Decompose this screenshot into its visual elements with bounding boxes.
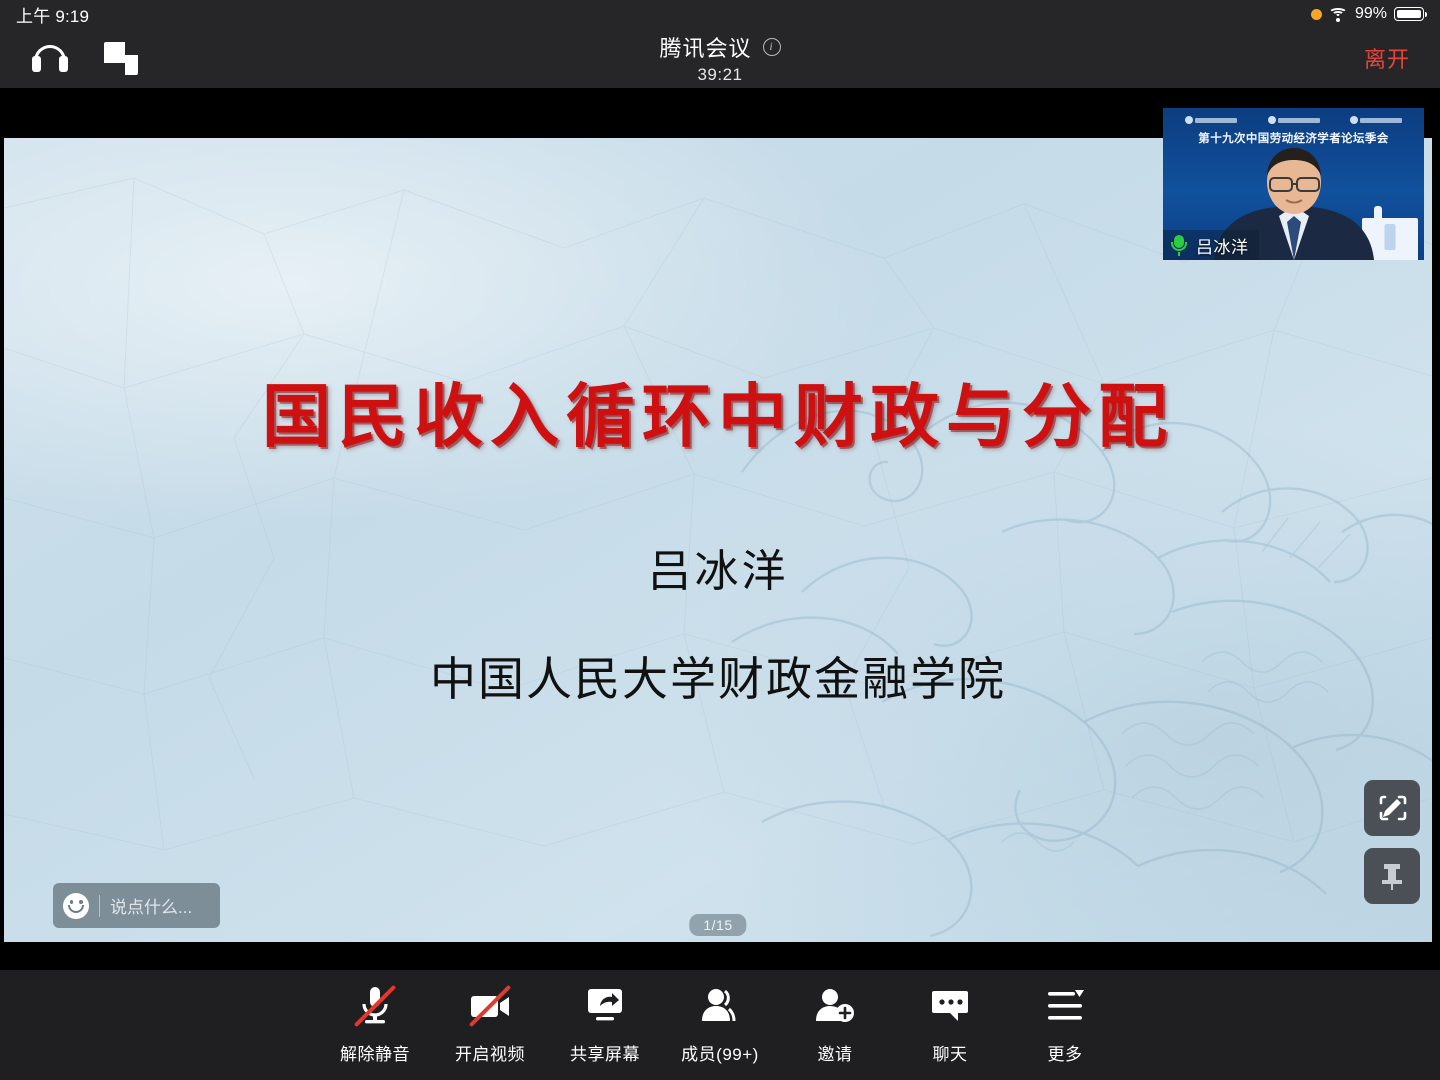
toolbar-label: 开启视频 [455,1040,525,1065]
share-screen-icon [581,985,629,1027]
composer-divider [99,895,100,917]
presenter-nameplate: 吕冰洋 [1163,230,1259,260]
smiley-icon[interactable] [63,893,89,919]
start-video-button[interactable]: 开启视频 [433,985,548,1065]
backdrop-logo-row [1185,114,1402,126]
toolbar-label: 邀请 [818,1040,853,1065]
meeting-toolbar: 解除静音 开启视频 共享屏幕 [0,970,1440,1080]
share-screen-button[interactable]: 共享屏幕 [548,985,663,1065]
backdrop-logo [1185,114,1237,126]
slide-page-indicator: 1/15 [689,914,746,936]
backdrop-logo [1268,114,1320,126]
leave-button[interactable]: 离开 [1364,28,1410,88]
toolbar-label: 解除静音 [340,1040,410,1065]
toolbar-label: 成员(99+) [681,1040,759,1065]
slide-side-buttons [1364,780,1420,904]
slide-title: 国民收入循环中财政与分配 [4,360,1432,460]
toolbar-label: 聊天 [933,1040,968,1065]
shared-screen-stage: 国民收入循环中财政与分配 吕冰洋 中国人民大学财政金融学院 说点什么... 1/… [0,88,1440,970]
participants-icon [696,985,744,1027]
invite-button[interactable]: 邀请 [778,985,893,1065]
meeting-header: 腾讯会议 i 39:21 离开 [0,28,1440,88]
header-center: 腾讯会议 i 39:21 [0,28,1440,88]
unmute-button[interactable]: 解除静音 [318,985,433,1065]
backdrop-logo [1350,114,1402,126]
battery-percent-label: 99% [1355,5,1387,23]
presenter-name: 吕冰洋 [1196,233,1249,258]
microphone-on-icon [1169,234,1189,256]
slide-author: 吕冰洋 [4,535,1432,599]
backdrop-banner-text: 第十九次中国劳动经济学者论坛季会 [1163,130,1424,146]
wifi-icon [1329,7,1348,22]
invite-person-icon [811,985,859,1027]
video-off-icon [466,985,514,1027]
meeting-app-root: 上午 9:19 99% 腾讯会议 i 39:21 离开 [0,0,1440,1080]
battery-icon [1394,7,1424,21]
status-indicators: 99% [1311,5,1424,23]
microphone-muted-icon [351,985,399,1027]
participants-button[interactable]: 成员(99+) [663,985,778,1065]
meeting-title-row: 腾讯会议 i [659,31,780,63]
presenter-thumbnail[interactable]: 第十九次中国劳动经济学者论坛季会 吕冰洋 [1163,108,1424,260]
meeting-title: 腾讯会议 [659,31,751,63]
status-bar: 上午 9:19 99% [0,0,1440,28]
pin-button[interactable] [1364,848,1420,904]
pin-icon [1378,861,1406,891]
slide-affiliation: 中国人民大学财政金融学院 [4,643,1432,709]
chat-button[interactable]: 聊天 [893,985,1008,1065]
info-icon[interactable]: i [763,38,781,56]
recording-dot-icon [1311,9,1322,20]
toolbar-label: 更多 [1048,1040,1083,1065]
pencil-annotate-icon [1377,793,1407,823]
chat-input-placeholder[interactable]: 说点什么... [110,893,192,918]
chat-bubble-icon [926,985,974,1027]
more-button[interactable]: 更多 [1008,985,1123,1065]
status-time: 上午 9:19 [16,2,89,27]
chat-composer[interactable]: 说点什么... [53,883,220,928]
annotate-button[interactable] [1364,780,1420,836]
meeting-timer: 39:21 [697,65,742,85]
more-menu-icon [1041,985,1089,1027]
toolbar-label: 共享屏幕 [570,1040,640,1065]
